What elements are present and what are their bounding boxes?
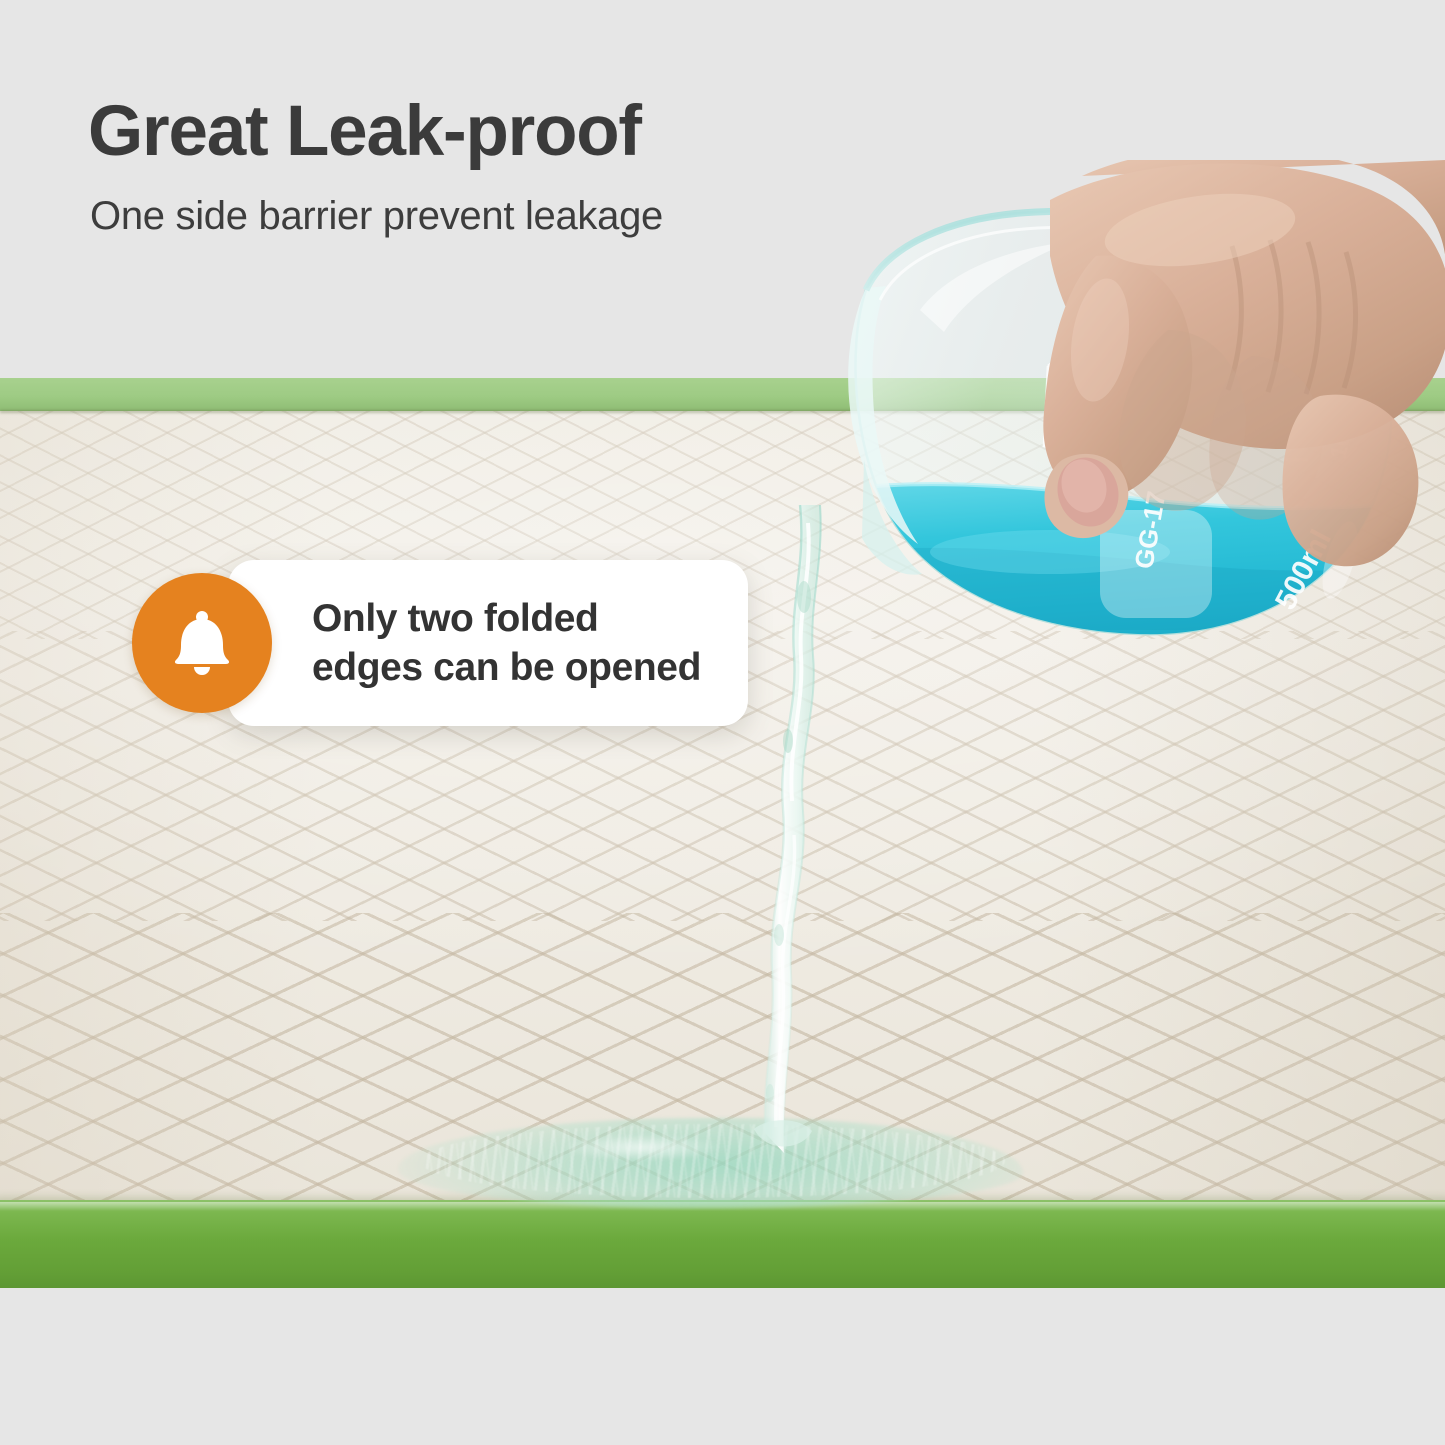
bell-icon <box>170 609 234 677</box>
callout-card: Only two folded edges can be opened <box>228 560 748 726</box>
page-subtitle: One side barrier prevent leakage <box>90 194 1088 238</box>
feature-callout: Only two folded edges can be opened <box>132 560 748 726</box>
beaker-marking-approx: APPROX <box>1117 287 1150 357</box>
mat-back-border <box>0 378 1445 411</box>
product-photo <box>0 378 1445 1288</box>
header-block: Great Leak-proof One side barrier preven… <box>88 96 1088 238</box>
product-feature-image: Great Leak-proof One side barrier preven… <box>0 0 1445 1445</box>
callout-badge <box>132 573 272 713</box>
callout-text: Only two folded edges can be opened <box>312 594 708 692</box>
mat-leak-barrier <box>0 1200 1445 1288</box>
mat-surface <box>0 409 1445 1254</box>
beaker-marking-500: 500 <box>1077 298 1117 349</box>
page-title: Great Leak-proof <box>88 96 1088 168</box>
mat-lighting-overlay <box>0 409 1445 1254</box>
